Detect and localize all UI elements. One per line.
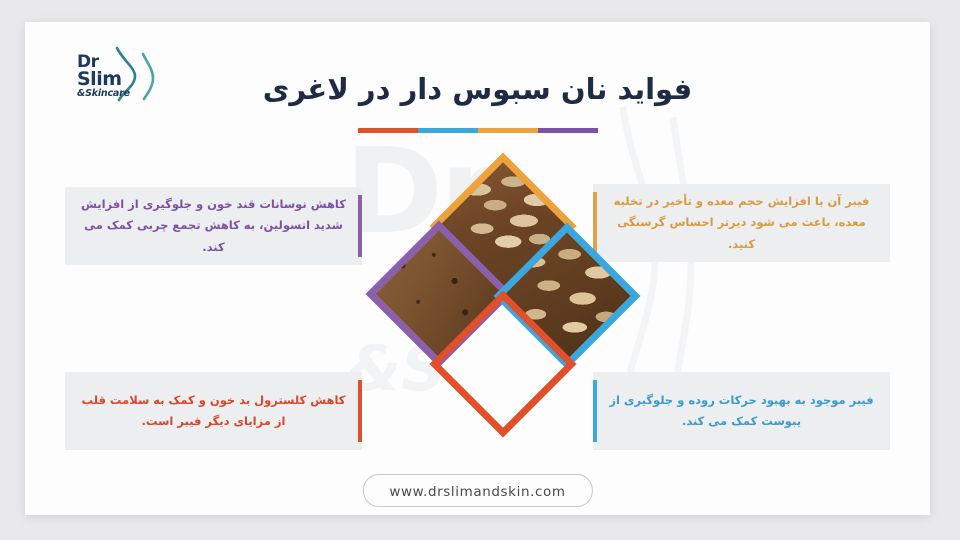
website-url-pill[interactable]: www.drslimandskin.com [362, 474, 592, 507]
divider-segment-1 [538, 128, 598, 133]
title-divider [358, 128, 598, 133]
page-title: فواید نان سبوس دار در لاغری [25, 72, 930, 106]
website-url-text: www.drslimandskin.com [389, 484, 565, 500]
benefit-accent-bar [358, 380, 362, 442]
benefit-card-blood-sugar: کاهش نوسانات قند خون و جلوگیری از افزایش… [65, 187, 362, 265]
divider-segment-3 [418, 128, 478, 133]
benefit-text-blood-sugar: کاهش نوسانات قند خون و جلوگیری از افزایش… [65, 194, 362, 258]
benefit-card-satiety: فیبر آن با افزایش حجم معده و تأخیر در تخ… [593, 184, 890, 262]
benefit-card-digestion: فیبر موجود به بهبود حرکات روده و جلوگیری… [593, 372, 890, 450]
infographic-card: Dr &S Dr Slim &Skincare فواید نان سبوس د… [25, 22, 930, 515]
divider-segment-2 [478, 128, 538, 133]
benefit-accent-bar [358, 195, 362, 257]
benefit-text-digestion: فیبر موجود به بهبود حرکات روده و جلوگیری… [593, 390, 890, 433]
image-cluster [383, 162, 623, 452]
benefit-text-cholesterol: کاهش کلسترول بد خون و کمک به سلامت قلب ا… [65, 390, 362, 433]
benefit-card-cholesterol: کاهش کلسترول بد خون و کمک به سلامت قلب ا… [65, 372, 362, 450]
divider-segment-4 [358, 128, 418, 133]
benefit-text-satiety: فیبر آن با افزایش حجم معده و تأخیر در تخ… [593, 191, 890, 255]
